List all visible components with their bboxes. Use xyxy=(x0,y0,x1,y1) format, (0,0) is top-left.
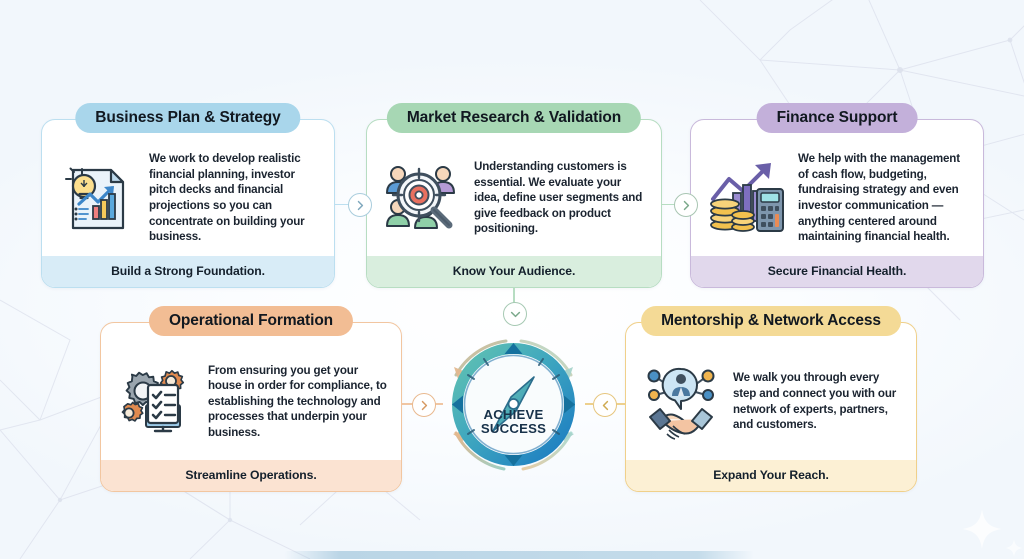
card-title-business-plan-strategy: Business Plan & Strategy xyxy=(75,103,300,133)
connector-card1-to-card2[interactable] xyxy=(348,193,372,217)
compass-icon xyxy=(432,323,595,486)
card-footer-market-research-validation: Know Your Audience. xyxy=(367,256,661,287)
card-title-mentorship-network-access: Mentorship & Network Access xyxy=(641,306,901,336)
chevron-down-icon xyxy=(510,310,521,319)
card-description-operational-formation: From ensuring you get your house in orde… xyxy=(208,363,387,441)
card-description-market-research-validation: Understanding customers is essential. We… xyxy=(474,159,647,237)
card-title-market-research-validation: Market Research & Validation xyxy=(387,103,641,133)
gears-checklist-monitor-icon xyxy=(114,360,198,444)
chevron-left-icon xyxy=(601,400,610,411)
card-operational-formation[interactable]: Operational Formation xyxy=(100,322,402,492)
chevron-right-icon xyxy=(420,400,429,411)
card-description-business-plan-strategy: We work to develop realistic financial p… xyxy=(149,151,320,244)
sparkle-small-icon xyxy=(1004,538,1024,558)
connector-line-card1-card2-left xyxy=(335,204,349,206)
card-footer-finance-support: Secure Financial Health. xyxy=(691,256,983,287)
connector-card2-to-center[interactable] xyxy=(503,302,527,326)
connector-card5-to-center[interactable] xyxy=(593,393,617,417)
card-description-finance-support: We help with the management of cash flow… xyxy=(798,151,969,244)
connector-card4-to-center[interactable] xyxy=(412,393,436,417)
card-mentorship-network-access[interactable]: Mentorship & Network Access xyxy=(625,322,917,492)
card-description-mentorship-network-access: We walk you through every step and conne… xyxy=(733,370,902,432)
card-market-research-validation[interactable]: Market Research & Validation xyxy=(366,119,662,288)
card-title-finance-support: Finance Support xyxy=(757,103,918,133)
card-finance-support[interactable]: Finance Support xyxy=(690,119,984,288)
coins-calculator-growth-icon xyxy=(704,156,788,240)
magnifier-target-people-icon xyxy=(380,156,464,240)
bottom-accent-bar xyxy=(284,551,754,559)
chevron-right-icon xyxy=(682,200,691,211)
infographic-canvas: Business Plan & Strategy xyxy=(0,0,1024,559)
connector-card2-to-card3[interactable] xyxy=(674,193,698,217)
card-footer-operational-formation: Streamline Operations. xyxy=(101,460,401,491)
card-footer-mentorship-network-access: Expand Your Reach. xyxy=(626,460,916,491)
connector-line-card2-center xyxy=(513,288,515,303)
chevron-right-icon xyxy=(356,200,365,211)
card-business-plan-strategy[interactable]: Business Plan & Strategy xyxy=(41,119,335,288)
achieve-success-compass: ACHIEVE SUCCESS xyxy=(432,323,595,486)
sparkle-icon xyxy=(958,505,1006,553)
card-footer-business-plan-strategy: Build a Strong Foundation. xyxy=(42,256,334,287)
document-lightbulb-chart-icon xyxy=(55,156,139,240)
handshake-network-icon xyxy=(639,360,723,444)
card-title-operational-formation: Operational Formation xyxy=(149,306,353,336)
